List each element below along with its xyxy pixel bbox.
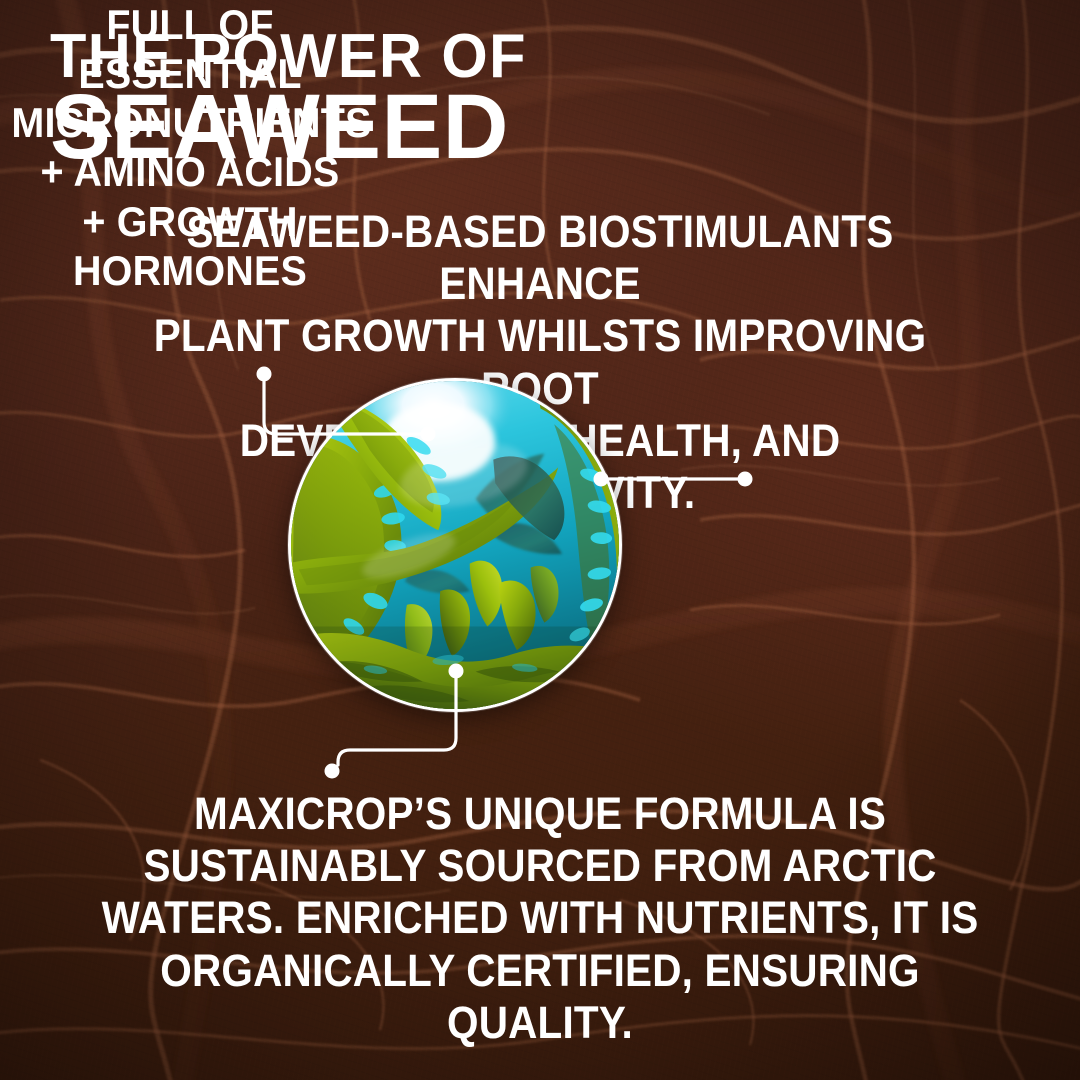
right-callout-line-2: ESSENTIAL — [11, 49, 368, 98]
right-callout-line-5: + GROWTH — [11, 197, 368, 246]
bottom-paragraph-line-4: ORGANICALLY CERTIFIED, ENSURING QUALITY. — [90, 945, 990, 1049]
kelp-underwater-photo — [288, 378, 622, 712]
bottom-paragraph-line-3: WATERS. ENRICHED WITH NUTRIENTS, IT IS — [90, 892, 990, 944]
bottom-paragraph: MAXICROP’S UNIQUE FORMULA IS SUSTAINABLY… — [40, 788, 1040, 1049]
infographic-canvas: THE POWER OF SEAWEED SEAWEED-BASED BIOST… — [0, 0, 1080, 1080]
top-paragraph-line-2: PLANT GROWTH WHILSTS IMPROVING ROOT — [90, 310, 990, 414]
right-callout-line-3: MICRONUTRIENTS — [11, 98, 368, 147]
right-callout-line-6: HORMONES — [11, 246, 368, 295]
bottom-paragraph-line-2: SUSTAINABLY SOURCED FROM ARCTIC — [90, 840, 990, 892]
right-callout-line-4: + AMINO ACIDS — [11, 147, 368, 196]
right-callout-line-1: FULL OF — [11, 0, 368, 49]
bottom-paragraph-line-1: MAXICROP’S UNIQUE FORMULA IS — [90, 788, 990, 840]
right-callout: FULL OF ESSENTIAL MICRONUTRIENTS + AMINO… — [0, 0, 380, 295]
kelp-illustration — [291, 381, 619, 709]
